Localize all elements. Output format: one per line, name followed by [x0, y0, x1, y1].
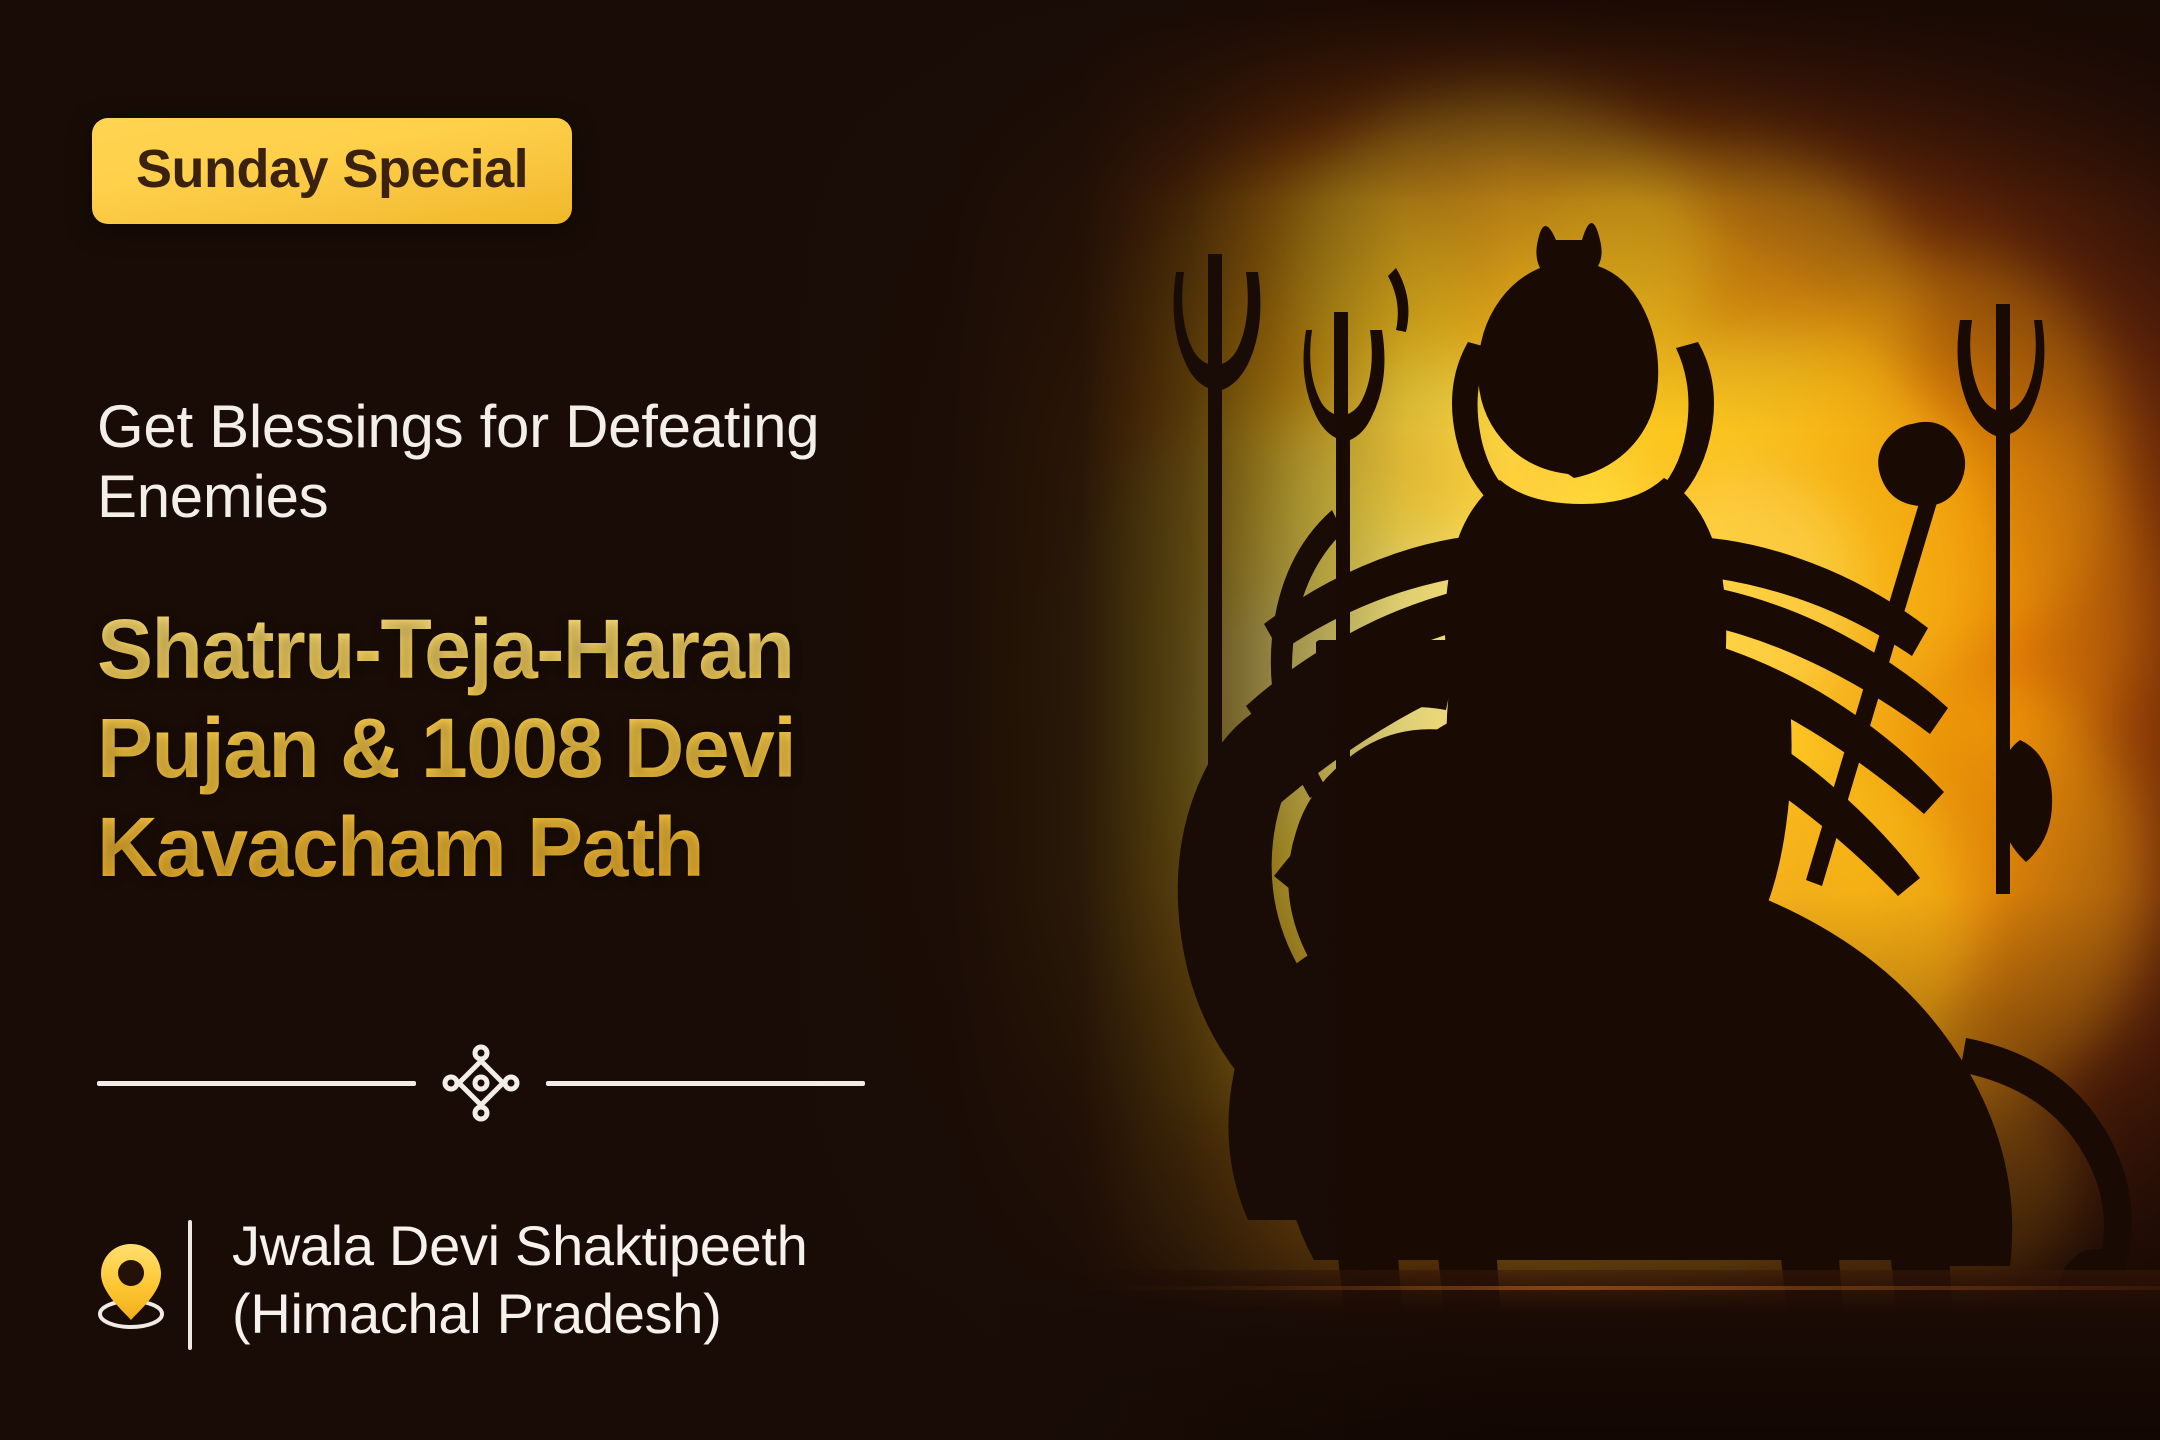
- diamond-ornament-icon: [442, 1044, 520, 1122]
- badge-label: Sunday Special: [136, 139, 528, 199]
- content-panel: Sunday Special Get Blessings for Defeati…: [92, 0, 1092, 1440]
- location-block: Jwala Devi Shaktipeeth (Himachal Pradesh…: [92, 1212, 808, 1350]
- location-divider-bar: [188, 1220, 192, 1350]
- subheading-line-2: Enemies: [97, 462, 997, 532]
- divider-rule-left: [97, 1081, 416, 1086]
- promo-banner: Sunday Special Get Blessings for Defeati…: [0, 0, 2160, 1440]
- location-line-2: (Himachal Pradesh): [232, 1280, 808, 1348]
- sunday-special-badge[interactable]: Sunday Special: [92, 118, 572, 224]
- headline-line-3: Kavacham Path: [97, 798, 977, 897]
- location-line-1: Jwala Devi Shaktipeeth: [232, 1212, 808, 1280]
- map-pin-icon: [92, 1212, 184, 1338]
- subheading-line-1: Get Blessings for Defeating: [97, 392, 997, 462]
- headline-line-1: Shatru-Teja-Haran: [97, 600, 977, 699]
- divider-rule-right: [546, 1081, 865, 1086]
- headline-line-2: Pujan & 1008 Devi: [97, 699, 977, 798]
- headline: Shatru-Teja-Haran Pujan & 1008 Devi Kava…: [97, 600, 977, 897]
- subheading: Get Blessings for Defeating Enemies: [97, 392, 997, 531]
- decorative-divider: [97, 1046, 865, 1120]
- location-text: Jwala Devi Shaktipeeth (Himachal Pradesh…: [232, 1212, 808, 1349]
